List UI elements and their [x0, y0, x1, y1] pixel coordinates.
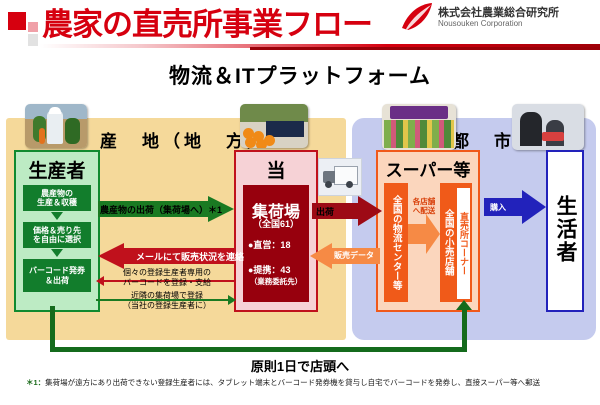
- footnote-text: 集荷場が遠方にあり出荷できない登録生産者には、タブレット端末とバーコード発券機を…: [45, 378, 540, 387]
- distribution-center-block: 全国の物流センター等: [384, 183, 408, 302]
- page-title: 農家の直売所事業フロー: [42, 0, 372, 44]
- producer-flow-arrow-1-icon: [51, 212, 63, 220]
- footnote: ＊1：集荷場が遠方にあり出荷できない登録生産者には、タブレット端末とバーコード発…: [26, 378, 578, 389]
- registration-line1: 近隣の集荷場で登録: [131, 291, 203, 300]
- delivery-arrow-icon: [408, 214, 440, 254]
- route-line-left: [50, 306, 55, 352]
- delivery-arrow-label: 各店舗 へ配送: [407, 198, 441, 215]
- farm-stand-photo: [382, 104, 456, 150]
- retail-stores-label: 全国の小売店舗: [440, 183, 456, 302]
- delivery-truck-icon: [318, 158, 362, 196]
- direct-sales-corner-block: 直売所コーナー: [456, 187, 471, 300]
- arrow-shipping-to-company: 農産物の出荷（集荷場へ）＊1: [98, 196, 234, 222]
- registration-line2: （当社の登録生産者に）: [123, 301, 211, 310]
- retail-stores-block: 全国の小売店舗 直売所コーナー: [440, 183, 472, 302]
- route-line-bottom: [50, 347, 467, 352]
- arrow-sales-data: 販売データ: [310, 243, 380, 269]
- company-box[interactable]: 当 社 集荷場 （全国61） ●直営：18 ●提携：43 （業務委託先）: [234, 150, 318, 312]
- barcode-supply-line1: 個々の登録生産者専用の: [123, 268, 211, 277]
- supermarket-title: スーパー等: [378, 156, 478, 181]
- header-square-large-icon: [8, 12, 26, 30]
- producer-title: 生産者: [16, 156, 98, 183]
- distribution-center-label: 全国の物流センター等: [384, 183, 408, 302]
- farmer-photo: [25, 104, 87, 148]
- slide-subtitle: 物流＆ITプラットフォーム: [0, 60, 600, 90]
- produce-crates-photo: [240, 104, 308, 148]
- arrow-mail-status: メールにて販売状況を連絡: [98, 243, 234, 269]
- producer-step-3-label: バーコード発券＆出荷: [29, 266, 85, 284]
- producer-step-1-label: 農産物の生産＆収穫: [37, 189, 77, 207]
- region-label-city: 都 市: [452, 127, 515, 152]
- barcode-supply-line2: バーコードを登録・支給: [123, 278, 211, 287]
- arrow-outbound-shipping: 出荷: [312, 196, 380, 226]
- route-arrow-head-icon: [456, 300, 472, 310]
- slide-header: 農家の直売所事業フロー 株式会社農業総合研究所 Nousouken Corpor…: [0, 0, 600, 52]
- consumer-title: 生活者: [548, 152, 582, 306]
- collection-center-card: 集荷場 （全国61） ●直営：18 ●提携：43 （業務委託先）: [243, 185, 309, 302]
- arrow-shipping-label: 農産物の出荷（集荷場へ）＊1: [100, 203, 222, 216]
- barcode-supply-text: 個々の登録生産者専用の バーコードを登録・支給: [100, 268, 234, 288]
- collection-center-direct: ●直営：18: [248, 238, 309, 251]
- header-rule-secondary: [250, 47, 600, 50]
- collection-center-partner: ●提携：43: [248, 263, 309, 276]
- arrow-purchase: 購入: [484, 190, 546, 224]
- corporate-name: 株式会社農業総合研究所: [438, 4, 559, 20]
- route-line-right: [462, 306, 467, 352]
- supermarket-box[interactable]: スーパー等 全国の物流センター等 各店舗 へ配送 全国の小売店舗 直売所コーナー: [376, 150, 480, 312]
- arrow-sales-data-label: 販売データ: [334, 250, 374, 261]
- collection-center-count: （全国61）: [243, 217, 309, 230]
- shoppers-photo: [512, 104, 584, 150]
- producer-step-barcode: バーコード発券＆出荷: [23, 259, 91, 292]
- producer-step-pricing: 価格＆売り先を自由に選択: [23, 222, 91, 248]
- consumer-box[interactable]: 生活者: [546, 150, 584, 312]
- corporate-name-en: Nousouken Corporation: [438, 19, 523, 28]
- red-leaf-logo-icon: [400, 2, 434, 32]
- registration-text: 近隣の集荷場で登録 （当社の登録生産者に）: [100, 291, 234, 311]
- producer-box[interactable]: 生産者 農産物の生産＆収穫 価格＆売り先を自由に選択 バーコード発券＆出荷: [14, 150, 100, 312]
- direct-sales-corner-label: 直売所コーナー: [457, 188, 470, 299]
- slide-canvas: 農家の直売所事業フロー 株式会社農業総合研究所 Nousouken Corpor…: [0, 0, 600, 405]
- header-square-pink-icon: [28, 22, 38, 32]
- collection-center-partner-note: （業務委託先）: [243, 276, 309, 287]
- producer-step-production: 農産物の生産＆収穫: [23, 185, 91, 211]
- footnote-marker: ＊1：: [26, 378, 45, 387]
- arrow-outbound-label: 出荷: [316, 205, 334, 218]
- header-square-gray-icon: [28, 34, 38, 46]
- route-label: 原則1日で店頭へ: [0, 356, 600, 375]
- producer-flow-arrow-2-icon: [51, 249, 63, 257]
- producer-step-2-label: 価格＆売り先を自由に選択: [33, 226, 81, 244]
- arrow-purchase-label: 購入: [490, 202, 506, 213]
- arrow-mail-status-label: メールにて販売状況を連絡: [136, 250, 244, 263]
- delivery-label-line2: へ配送: [413, 206, 436, 215]
